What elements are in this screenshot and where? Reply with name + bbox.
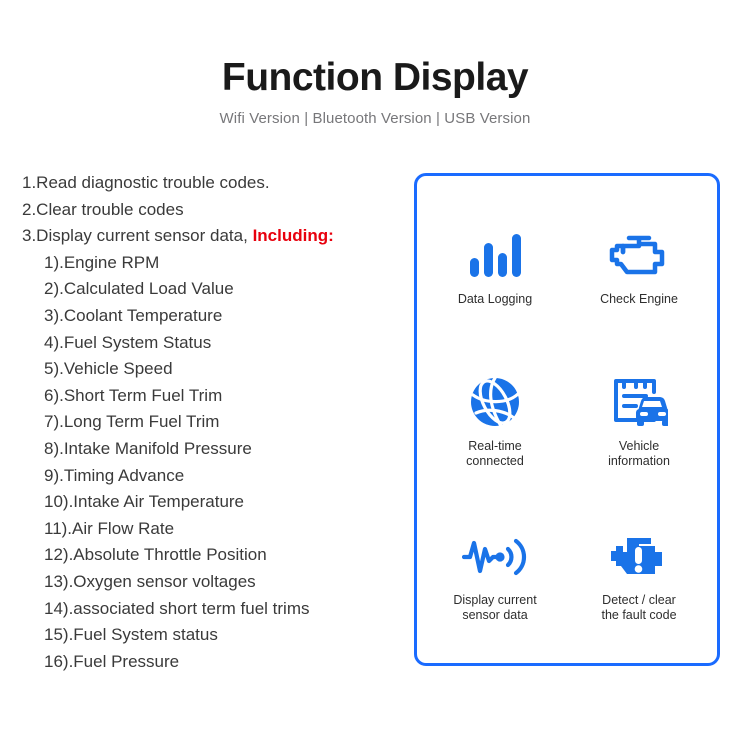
list-item: 10).Intake Air Temperature bbox=[22, 489, 422, 516]
icon-label: Data Logging bbox=[458, 292, 532, 307]
list-item: 11).Air Flow Rate bbox=[22, 516, 422, 543]
icon-cell-realtime-connected[interactable]: Real-time connected bbox=[423, 344, 567, 498]
including-highlight: Including: bbox=[253, 226, 334, 245]
icon-cell-data-logging[interactable]: Data Logging bbox=[423, 190, 567, 344]
list-item: 15).Fuel System status bbox=[22, 622, 422, 649]
list-item: 12).Absolute Throttle Position bbox=[22, 542, 422, 569]
list-item: 16).Fuel Pressure bbox=[22, 649, 422, 676]
list-item: 8).Intake Manifold Pressure bbox=[22, 436, 422, 463]
icon-cell-check-engine[interactable]: Check Engine bbox=[567, 190, 711, 344]
icon-cell-detect-clear-fault[interactable]: Detect / clear the fault code bbox=[567, 499, 711, 653]
page-title: Function Display bbox=[0, 58, 750, 99]
page-subtitle: Wifi Version | Bluetooth Version | USB V… bbox=[0, 110, 750, 127]
list-item-text: 3.Display current sensor data, bbox=[22, 226, 253, 245]
icon-cell-vehicle-information[interactable]: Vehicle information bbox=[567, 344, 711, 498]
list-item: 9).Timing Advance bbox=[22, 463, 422, 490]
list-item: 1).Engine RPM bbox=[22, 250, 422, 277]
list-item-with-highlight: 3.Display current sensor data, Including… bbox=[22, 223, 422, 250]
icon-label: Vehicle information bbox=[608, 439, 670, 469]
list-item: 14).associated short term fuel trims bbox=[22, 596, 422, 623]
globe-network-icon bbox=[468, 374, 522, 430]
check-engine-icon bbox=[609, 227, 669, 283]
list-item: 2.Clear trouble codes bbox=[22, 197, 422, 224]
icon-label: Check Engine bbox=[600, 292, 678, 307]
page-header: Function Display Wifi Version | Bluetoot… bbox=[0, 58, 750, 127]
icon-grid: Data Logging Check Engine bbox=[417, 176, 717, 663]
list-item: 5).Vehicle Speed bbox=[22, 356, 422, 383]
list-item: 2).Calculated Load Value bbox=[22, 276, 422, 303]
list-item: 4).Fuel System Status bbox=[22, 330, 422, 357]
icon-panel: Data Logging Check Engine bbox=[414, 173, 720, 666]
bar-chart-icon bbox=[468, 227, 522, 283]
icon-label: Real-time connected bbox=[466, 439, 524, 469]
list-item: 7).Long Term Fuel Trim bbox=[22, 409, 422, 436]
list-item: 1.Read diagnostic trouble codes. bbox=[22, 170, 422, 197]
waveform-signal-icon bbox=[462, 528, 528, 584]
list-item: 13).Oxygen sensor voltages bbox=[22, 569, 422, 596]
list-item: 3).Coolant Temperature bbox=[22, 303, 422, 330]
engine-alert-icon bbox=[609, 528, 669, 584]
icon-label: Display current sensor data bbox=[453, 593, 536, 623]
clipboard-car-icon bbox=[610, 374, 668, 430]
icon-cell-display-sensor-data[interactable]: Display current sensor data bbox=[423, 499, 567, 653]
list-item: 6).Short Term Fuel Trim bbox=[22, 383, 422, 410]
icon-label: Detect / clear the fault code bbox=[601, 593, 676, 623]
feature-list: 1.Read diagnostic trouble codes. 2.Clear… bbox=[22, 170, 422, 675]
